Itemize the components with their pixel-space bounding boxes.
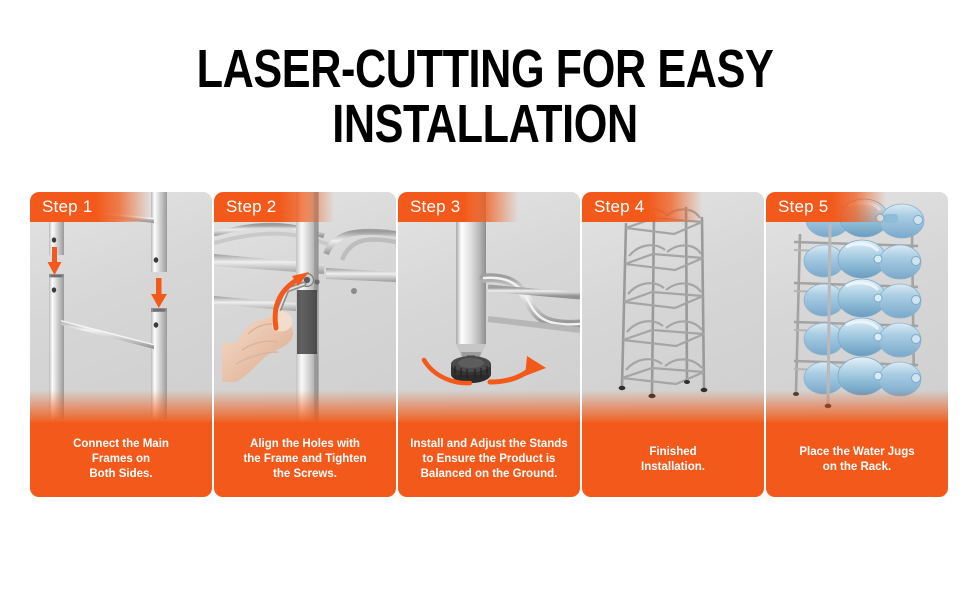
step-5-photo <box>766 192 948 424</box>
step-card-4[interactable]: Step 4 Finished Installation. <box>582 192 764 497</box>
step-1-caption: Connect the Main Frames on Both Sides. <box>30 422 212 497</box>
step-card-2[interactable]: Step 2 Align the Holes with the Frame an… <box>214 192 396 497</box>
step-3-badge-label: Step 3 <box>398 197 460 217</box>
step-1-photo-fade <box>30 390 212 424</box>
step-2-badge-label: Step 2 <box>214 197 276 217</box>
step-4-photo-fade <box>582 390 764 424</box>
step-card-1[interactable]: Step 1 Connect the Main Frames on Both S… <box>30 192 212 497</box>
step-3-badge: Step 3 <box>398 192 518 222</box>
step-card-5[interactable]: Step 5 Place the Water Jugs on the Rack. <box>766 192 948 497</box>
step-5-caption: Place the Water Jugs on the Rack. <box>766 422 948 497</box>
step-3-photo-fade <box>398 390 580 424</box>
step-3-photo <box>398 192 580 424</box>
step-5-badge: Step 5 <box>766 192 886 222</box>
step-4-badge-label: Step 4 <box>582 197 644 217</box>
step-3-caption: Install and Adjust the Stands to Ensure … <box>398 422 580 497</box>
step-card-3[interactable]: Step 3 Install and Adjust the Stands to … <box>398 192 580 497</box>
step-2-badge: Step 2 <box>214 192 334 222</box>
step-2-photo-fade <box>214 390 396 424</box>
step-2-caption: Align the Holes with the Frame and Tight… <box>214 422 396 497</box>
step-4-caption: Finished Installation. <box>582 422 764 497</box>
step-5-photo-fade <box>766 390 948 424</box>
step-1-badge: Step 1 <box>30 192 150 222</box>
step-1-badge-label: Step 1 <box>30 197 92 217</box>
step-5-badge-label: Step 5 <box>766 197 828 217</box>
step-1-photo <box>30 192 212 424</box>
page-title: LASER-CUTTING FOR EASY INSTALLATION <box>97 42 873 152</box>
step-4-photo <box>582 192 764 424</box>
step-2-photo <box>214 192 396 424</box>
step-4-badge: Step 4 <box>582 192 702 222</box>
steps-row: Step 1 Connect the Main Frames on Both S… <box>30 192 940 497</box>
